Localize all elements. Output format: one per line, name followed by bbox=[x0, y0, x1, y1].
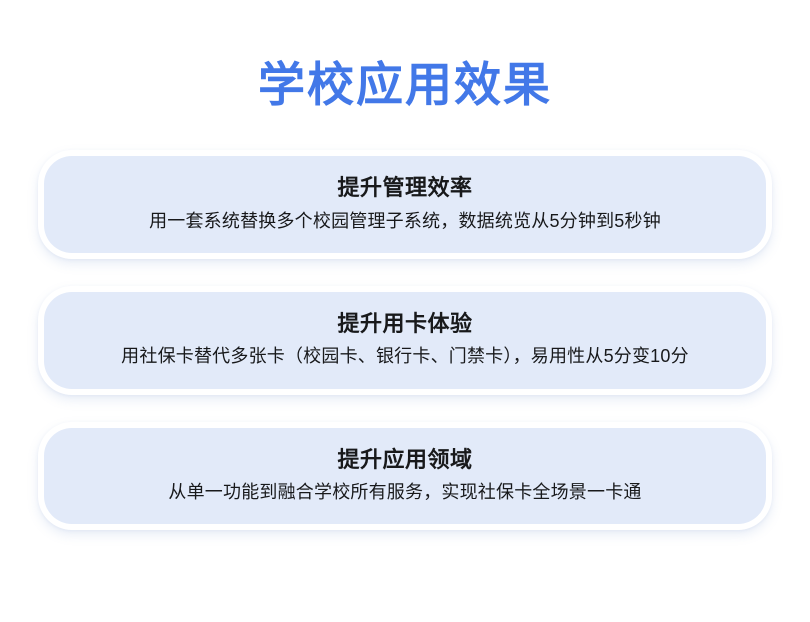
benefit-card-3: 提升应用领域 从单一功能到融合学校所有服务，实现社保卡全场景一卡通 bbox=[44, 428, 766, 525]
page-title: 学校应用效果 bbox=[0, 58, 810, 112]
benefit-card-1-description: 用一套系统替换多个校园管理子系统，数据统览从5分钟到5秒钟 bbox=[70, 208, 740, 234]
benefit-card-1-title: 提升管理效率 bbox=[70, 173, 740, 203]
benefit-card-1: 提升管理效率 用一套系统替换多个校园管理子系统，数据统览从5分钟到5秒钟 bbox=[44, 156, 766, 253]
benefit-card-3-title: 提升应用领域 bbox=[70, 445, 740, 475]
benefit-card-3-description: 从单一功能到融合学校所有服务，实现社保卡全场景一卡通 bbox=[70, 479, 740, 505]
benefit-card-1-frame: 提升管理效率 用一套系统替换多个校园管理子系统，数据统览从5分钟到5秒钟 bbox=[38, 150, 772, 259]
slide-root: 学校应用效果 提升管理效率 用一套系统替换多个校园管理子系统，数据统览从5分钟到… bbox=[0, 0, 810, 622]
benefit-card-2-title: 提升用卡体验 bbox=[70, 309, 740, 339]
benefit-card-2-frame: 提升用卡体验 用社保卡替代多张卡（校园卡、银行卡、门禁卡），易用性从5分变10分 bbox=[38, 286, 772, 395]
benefit-card-3-frame: 提升应用领域 从单一功能到融合学校所有服务，实现社保卡全场景一卡通 bbox=[38, 422, 772, 531]
benefit-card-2-description: 用社保卡替代多张卡（校园卡、银行卡、门禁卡），易用性从5分变10分 bbox=[70, 343, 740, 369]
benefit-card-list: 提升管理效率 用一套系统替换多个校园管理子系统，数据统览从5分钟到5秒钟 提升用… bbox=[0, 150, 810, 557]
benefit-card-2: 提升用卡体验 用社保卡替代多张卡（校园卡、银行卡、门禁卡），易用性从5分变10分 bbox=[44, 292, 766, 389]
